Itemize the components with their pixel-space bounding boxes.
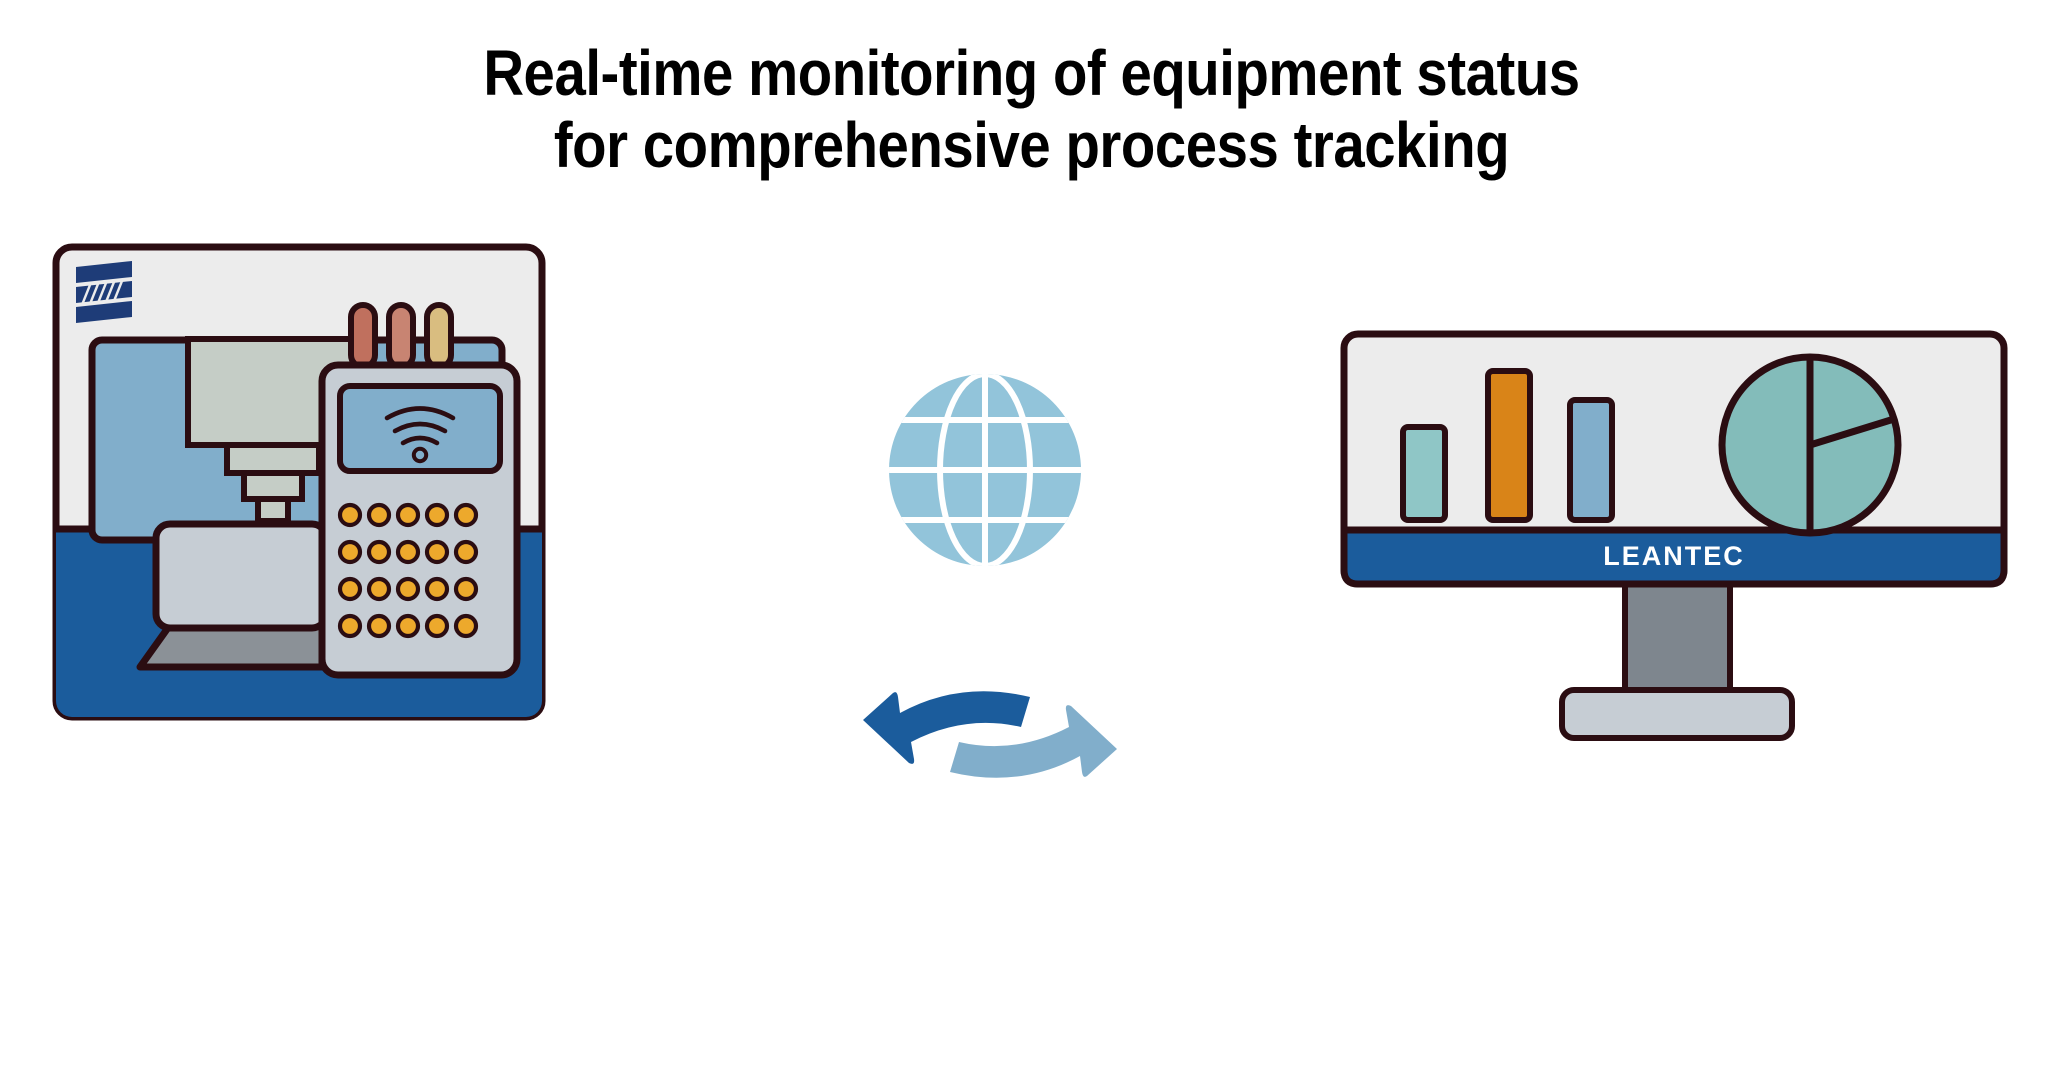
page-title-line-1: Real-time monitoring of equipment status: [124, 38, 1939, 110]
illustration-canvas: Real-time monitoring of equipment status…: [0, 0, 2063, 1086]
bar-chart-bar-3: [1570, 400, 1612, 520]
page-title-line-2: for comprehensive process tracking: [124, 110, 1939, 182]
bar-chart-bar-2: [1488, 371, 1530, 520]
machine-front-panel: [156, 524, 326, 628]
status-pillar-1: [351, 305, 375, 367]
handheld-controller[interactable]: [322, 365, 517, 675]
status-pillar-3: [427, 305, 451, 367]
page-title: Real-time monitoring of equipment status…: [0, 38, 2063, 181]
status-pillars: [351, 305, 451, 367]
monitor-brand-label: LEANTEC: [1603, 541, 1745, 571]
pie-chart: [1722, 357, 1898, 533]
leantec-logo-icon: [76, 261, 132, 323]
dashboard-monitor-illustration: LEANTEC: [1340, 330, 2040, 800]
two-way-exchange-arrows: [805, 675, 1175, 805]
cnc-machine-illustration: [52, 243, 552, 723]
handheld-screen: [340, 386, 500, 471]
monitor-brand-banner: LEANTEC: [1344, 530, 2004, 584]
monitor-stand-neck: [1625, 578, 1730, 698]
globe-network-icon: [885, 370, 1085, 570]
bar-chart-bar-1: [1403, 427, 1445, 520]
monitor-stand-foot: [1562, 690, 1792, 738]
status-pillar-2: [389, 305, 413, 367]
